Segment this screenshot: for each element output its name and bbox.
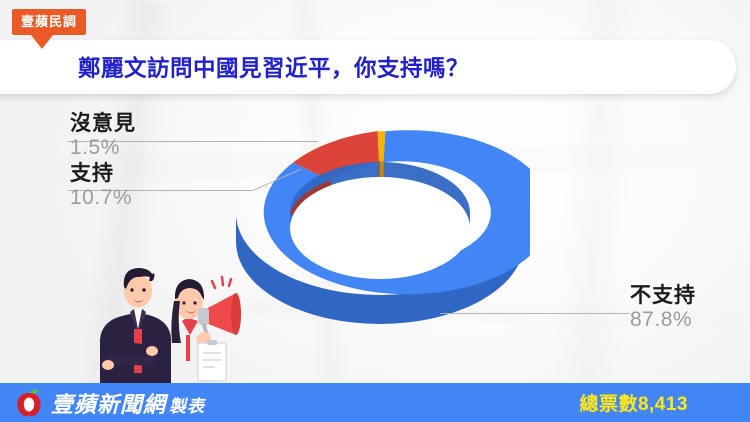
brand: 壹蘋新聞網製表: [14, 387, 205, 419]
callout-label-oppose: 不支持: [630, 284, 696, 308]
clipboard-icon: [198, 340, 226, 381]
callout-percent-support: 10.7%: [70, 186, 132, 210]
brand-suffix: 製表: [169, 397, 205, 416]
apple-logo: [14, 387, 44, 418]
footer-bar: 壹蘋新聞網製表 總票數8,413: [0, 383, 750, 422]
man-figure: [100, 268, 171, 385]
poll-badge-tail: [31, 35, 53, 49]
callout-label-support: 支持: [70, 162, 132, 186]
poll-badge: 壹蘋民調: [12, 9, 86, 35]
slice-no-opinion-depth: [379, 161, 384, 177]
callout-label-no-opinion: 沒意見: [70, 112, 136, 136]
illustration-two-people-with-megaphone: [86, 243, 248, 385]
callout-percent-oppose: 87.8%: [630, 308, 696, 332]
megaphone-icon: [198, 277, 241, 339]
title-bar: 鄭麗文訪問中國見習近平，你支持嗎？: [0, 40, 736, 94]
callout-no-opinion: 沒意見 1.5%: [70, 112, 136, 160]
poll-infographic: 鄭麗文訪問中國見習近平，你支持嗎？ 壹蘋民調: [0, 0, 750, 422]
callout-percent-no-opinion: 1.5%: [70, 136, 136, 160]
leader-line-oppose: [440, 313, 630, 314]
callout-support: 支持 10.7%: [70, 162, 132, 210]
slice-support-depth-edge: [379, 161, 380, 177]
donut-chart: [230, 118, 530, 343]
page-title: 鄭麗文訪問中國見習近平，你支持嗎？: [78, 51, 469, 83]
brand-name: 壹蘋新聞網製表: [51, 387, 205, 419]
total-votes: 總票數8,413: [579, 389, 688, 416]
callout-oppose: 不支持 87.8%: [630, 284, 696, 332]
donut-hole: [290, 177, 470, 279]
poll-badge-label: 壹蘋民調: [12, 9, 86, 35]
